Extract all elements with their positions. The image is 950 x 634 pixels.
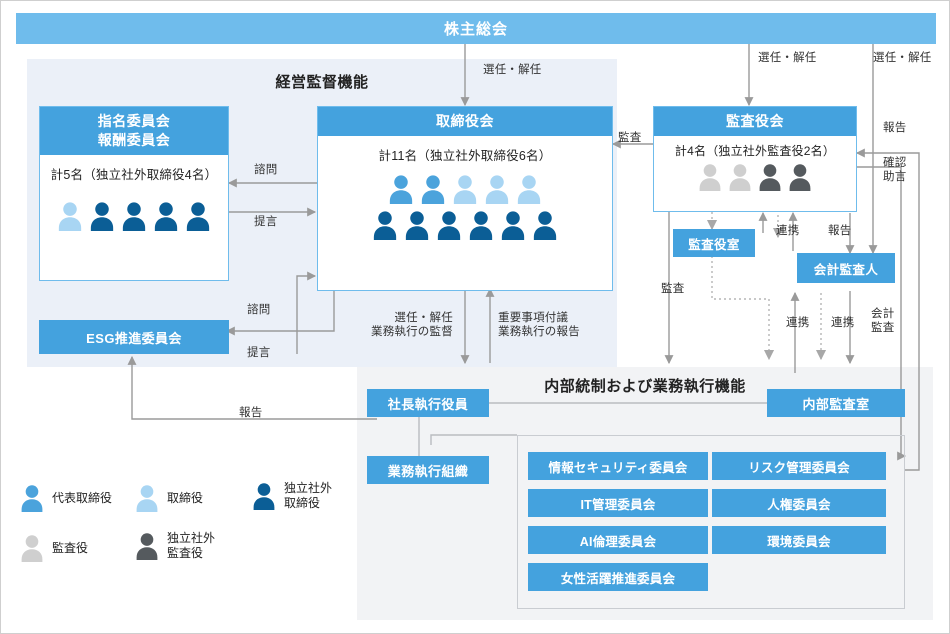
- committee-risk-management[interactable]: リスク管理委員会: [712, 452, 886, 480]
- legend-item-independent-auditor: 独立社外 監査役: [134, 531, 215, 561]
- box-execution-organization[interactable]: 業務執行組織: [367, 456, 489, 484]
- legend-label-independent: 独立社外 取締役: [284, 481, 332, 511]
- person-icon-independent: [435, 210, 463, 240]
- label-cooperate-2: 連携: [786, 316, 809, 330]
- label-appoint-supervise: 選任・解任 業務執行の監督: [371, 311, 453, 340]
- box-president-executive-officer[interactable]: 社長執行役員: [367, 389, 489, 417]
- committee-it-management[interactable]: IT管理委員会: [528, 489, 708, 517]
- person-icon-director: [515, 174, 543, 204]
- person-icon-director: [451, 174, 479, 204]
- person-icon-independent-auditor: [757, 163, 783, 191]
- person-icon-auditor: [727, 163, 753, 191]
- legend-item-independent-director: 独立社外 取締役: [251, 481, 332, 511]
- legend-label-representative: 代表取締役: [52, 491, 112, 506]
- person-icon-independent: [152, 201, 180, 231]
- label-report-accounting: 報告: [828, 224, 851, 238]
- box-auditor-office[interactable]: 監査役室: [673, 229, 755, 257]
- label-audit-to-board: 監査: [618, 131, 641, 145]
- label-appoint-board: 選任・解任: [483, 63, 542, 77]
- people-row-nomination: [40, 201, 228, 231]
- box-internal-audit-office[interactable]: 内部監査室: [767, 389, 905, 417]
- box-nomination-title: 指名委員会 報酬委員会: [40, 107, 228, 155]
- box-audit-board-count: 計4名（独立社外監査役2名）: [654, 136, 856, 159]
- person-icon-independent: [371, 210, 399, 240]
- people-row-board-2: [318, 210, 612, 240]
- box-nomination-title-line2: 報酬委員会: [40, 131, 228, 150]
- label-appoint-audit: 選任・解任: [758, 51, 817, 65]
- label-accounting-audit: 会計 監査: [871, 307, 894, 336]
- person-icon-director: [56, 201, 84, 231]
- legend-label-auditor: 監査役: [52, 541, 88, 556]
- label-appoint-accounting: 選任・解任: [873, 51, 932, 65]
- label-propose-esg: 提言: [247, 346, 270, 360]
- person-icon-director: [483, 174, 511, 204]
- committee-women-advancement[interactable]: 女性活躍推進委員会: [528, 563, 708, 591]
- person-icon-independent: [120, 201, 148, 231]
- label-report-right: 報告: [883, 121, 906, 135]
- box-nomination-compensation-committee[interactable]: 指名委員会 報酬委員会 計5名（独立社外取締役4名）: [39, 106, 229, 281]
- box-esg-committee[interactable]: ESG推進委員会: [39, 320, 229, 354]
- person-icon-independent-auditor: [134, 532, 160, 560]
- person-icon-independent: [499, 210, 527, 240]
- legend-label-independent-auditor: 独立社外 監査役: [167, 531, 215, 561]
- people-row-audit-board: [654, 163, 856, 191]
- label-esg-report: 報告: [239, 406, 262, 420]
- committee-environment[interactable]: 環境委員会: [712, 526, 886, 554]
- person-icon-independent-auditor: [787, 163, 813, 191]
- people-row-board-1: [318, 174, 612, 204]
- label-audit-down: 監査: [661, 282, 684, 296]
- box-board-of-directors[interactable]: 取締役会 計11名（独立社外取締役6名）: [317, 106, 613, 291]
- label-important-report: 重要事項付議 業務執行の報告: [498, 311, 580, 340]
- person-icon-independent: [467, 210, 495, 240]
- shareholders-meeting-bar[interactable]: 株主総会: [16, 13, 936, 44]
- committee-human-rights[interactable]: 人権委員会: [712, 489, 886, 517]
- label-consult-nomination: 諮問: [254, 163, 277, 177]
- person-icon-representative: [387, 174, 415, 204]
- box-nomination-count: 計5名（独立社外取締役4名）: [40, 155, 228, 183]
- box-board-count: 計11名（独立社外取締役6名）: [318, 136, 612, 164]
- person-icon-auditor: [697, 163, 723, 191]
- label-cooperate-3: 連携: [831, 316, 854, 330]
- box-audit-and-supervisory-board[interactable]: 監査役会 計4名（独立社外監査役2名）: [653, 106, 857, 212]
- person-icon-representative: [19, 484, 45, 512]
- governance-diagram: 経営監督機能 内部統制および業務執行機能: [0, 0, 950, 634]
- label-confirm-advise: 確認 助言: [883, 156, 906, 185]
- person-icon-independent: [251, 482, 277, 510]
- committee-info-security[interactable]: 情報セキュリティ委員会: [528, 452, 708, 480]
- committee-ai-ethics[interactable]: AI倫理委員会: [528, 526, 708, 554]
- box-board-title: 取締役会: [318, 107, 612, 136]
- label-consult-esg: 諮問: [247, 303, 270, 317]
- label-cooperate-1: 連携: [776, 224, 799, 238]
- person-icon-independent: [184, 201, 212, 231]
- person-icon-representative: [419, 174, 447, 204]
- box-audit-board-title: 監査役会: [654, 107, 856, 136]
- box-accounting-auditor[interactable]: 会計監査人: [797, 253, 895, 283]
- legend-label-director: 取締役: [167, 491, 203, 506]
- legend-item-auditor: 監査役: [19, 534, 88, 562]
- box-nomination-title-line1: 指名委員会: [40, 112, 228, 131]
- legend-item-representative: 代表取締役: [19, 484, 112, 512]
- person-icon-independent: [403, 210, 431, 240]
- person-icon-independent: [531, 210, 559, 240]
- label-propose-nomination: 提言: [254, 215, 277, 229]
- legend-item-director: 取締役: [134, 484, 203, 512]
- person-icon-auditor: [19, 534, 45, 562]
- person-icon-director: [134, 484, 160, 512]
- person-icon-independent: [88, 201, 116, 231]
